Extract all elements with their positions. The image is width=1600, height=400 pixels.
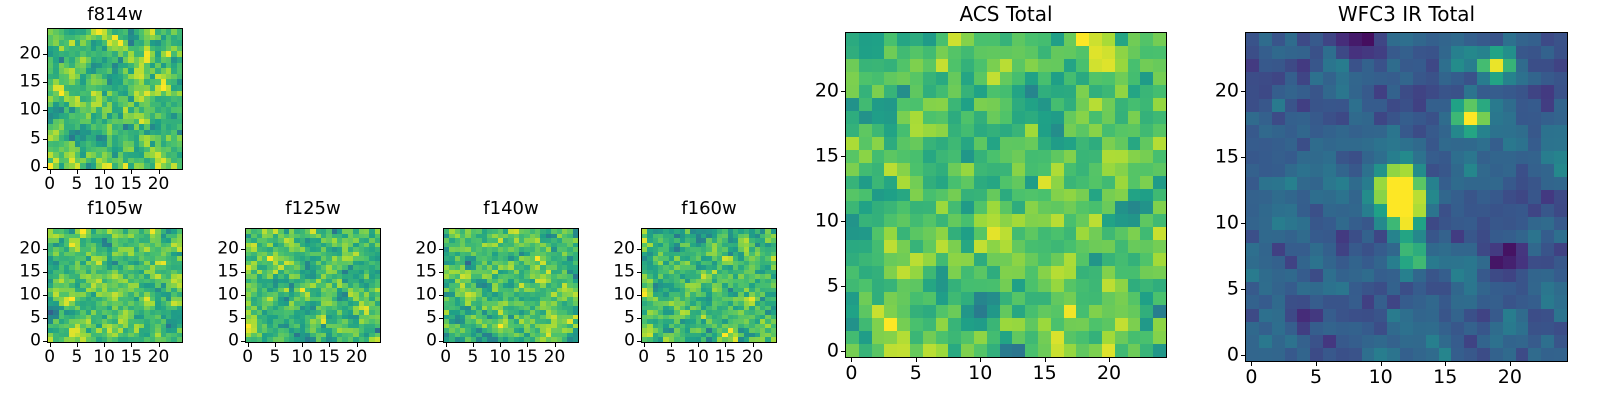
xtick-mark-acs-total-1 <box>916 358 917 362</box>
ytick-label-wfc3-ir-total-2: 10 <box>1175 214 1239 233</box>
xtick-mark-f105w-2 <box>104 343 105 347</box>
ytick-label-f125w-2: 10 <box>175 286 239 303</box>
ytick-label-f814w-3: 15 <box>0 73 41 90</box>
xtick-label-f140w-3: 15 <box>516 349 538 366</box>
xtick-label-f125w-2: 10 <box>291 349 313 366</box>
xtick-mark-acs-total-3 <box>1045 358 1046 362</box>
ytick-label-wfc3-ir-total-0: 0 <box>1175 346 1239 365</box>
xtick-label-acs-total-4: 20 <box>1097 364 1121 383</box>
panel-title-f814w: f814w <box>47 6 183 24</box>
xtick-label-wfc3-ir-total-1: 5 <box>1310 368 1322 387</box>
ytick-label-acs-total-2: 10 <box>775 212 839 231</box>
ytick-label-wfc3-ir-total-4: 20 <box>1175 82 1239 101</box>
ytick-label-acs-total-3: 15 <box>775 146 839 165</box>
panel-title-f140w: f140w <box>443 200 579 218</box>
xtick-mark-f140w-3 <box>527 343 528 347</box>
xtick-mark-f105w-4 <box>159 343 160 347</box>
xtick-label-f105w-3: 15 <box>120 349 142 366</box>
xtick-label-f125w-3: 15 <box>318 349 340 366</box>
xtick-label-acs-total-3: 15 <box>1033 364 1057 383</box>
xtick-mark-f125w-4 <box>357 343 358 347</box>
xtick-label-f125w-1: 5 <box>269 349 280 366</box>
ytick-label-f814w-4: 20 <box>0 45 41 62</box>
xtick-mark-acs-total-2 <box>980 358 981 362</box>
xtick-mark-f125w-0 <box>248 343 249 347</box>
xtick-mark-f814w-4 <box>159 170 160 174</box>
xtick-mark-f105w-3 <box>131 343 132 347</box>
ytick-label-f160w-1: 5 <box>571 309 635 326</box>
xtick-mark-f160w-3 <box>725 343 726 347</box>
xtick-label-f140w-1: 5 <box>467 349 478 366</box>
xtick-mark-f140w-1 <box>473 343 474 347</box>
xtick-mark-acs-total-0 <box>851 358 852 362</box>
axes-f125w[interactable] <box>245 228 381 343</box>
xtick-label-f105w-4: 20 <box>148 349 170 366</box>
xtick-label-f105w-1: 5 <box>71 349 82 366</box>
xtick-mark-f814w-3 <box>131 170 132 174</box>
xtick-label-f814w-3: 15 <box>120 176 142 193</box>
ytick-label-f140w-1: 5 <box>373 309 437 326</box>
axes-wfc3-ir-total[interactable] <box>1245 32 1568 362</box>
ytick-label-f105w-4: 20 <box>0 240 41 257</box>
heatmap-image-f125w <box>246 229 380 342</box>
ytick-label-f105w-1: 5 <box>0 309 41 326</box>
heatmap-image-f160w <box>642 229 776 342</box>
xtick-mark-f814w-1 <box>77 170 78 174</box>
xtick-mark-f125w-3 <box>329 343 330 347</box>
xtick-label-f105w-0: 0 <box>44 349 55 366</box>
axes-f160w[interactable] <box>641 228 777 343</box>
ytick-label-f140w-4: 20 <box>373 240 437 257</box>
panel-title-wfc3-ir-total: WFC3 IR Total <box>1245 4 1568 24</box>
panel-wfc3-ir-total: WFC3 IR Total0510152005101520 <box>0 0 1600 400</box>
xtick-label-wfc3-ir-total-4: 20 <box>1498 368 1522 387</box>
xtick-mark-wfc3-ir-total-1 <box>1316 362 1317 366</box>
ytick-label-f160w-4: 20 <box>571 240 635 257</box>
ytick-label-f814w-0: 0 <box>0 159 41 176</box>
xtick-label-f160w-4: 20 <box>742 349 764 366</box>
xtick-mark-f160w-2 <box>698 343 699 347</box>
ytick-label-acs-total-4: 20 <box>775 81 839 100</box>
heatmap-image-f105w <box>48 229 182 342</box>
ytick-label-f814w-2: 10 <box>0 102 41 119</box>
ytick-label-f105w-2: 10 <box>0 286 41 303</box>
ytick-label-wfc3-ir-total-1: 5 <box>1175 280 1239 299</box>
heatmap-image-f140w <box>444 229 578 342</box>
xtick-mark-f140w-2 <box>500 343 501 347</box>
ytick-label-f160w-0: 0 <box>571 332 635 349</box>
ytick-label-acs-total-1: 5 <box>775 277 839 296</box>
ytick-label-f140w-3: 15 <box>373 263 437 280</box>
ytick-label-f125w-3: 15 <box>175 263 239 280</box>
xtick-mark-wfc3-ir-total-3 <box>1445 362 1446 366</box>
xtick-label-f814w-0: 0 <box>44 176 55 193</box>
panel-title-f105w: f105w <box>47 200 183 218</box>
heatmap-image-wfc3-ir-total <box>1246 33 1567 361</box>
ytick-label-acs-total-0: 0 <box>775 342 839 361</box>
ytick-label-f814w-1: 5 <box>0 130 41 147</box>
xtick-label-f125w-0: 0 <box>242 349 253 366</box>
ytick-label-f125w-0: 0 <box>175 332 239 349</box>
xtick-label-f160w-2: 10 <box>687 349 709 366</box>
xtick-label-wfc3-ir-total-0: 0 <box>1245 368 1257 387</box>
xtick-label-f140w-0: 0 <box>440 349 451 366</box>
xtick-mark-acs-total-4 <box>1109 358 1110 362</box>
ytick-label-f140w-0: 0 <box>373 332 437 349</box>
xtick-mark-f125w-1 <box>275 343 276 347</box>
xtick-label-f814w-1: 5 <box>71 176 82 193</box>
figure-canvas: f814w0510152005101520f105w05101520051015… <box>0 0 1600 400</box>
ytick-label-f105w-3: 15 <box>0 263 41 280</box>
xtick-label-f140w-2: 10 <box>489 349 511 366</box>
xtick-label-f160w-0: 0 <box>638 349 649 366</box>
xtick-label-acs-total-0: 0 <box>845 364 857 383</box>
xtick-label-f160w-1: 5 <box>665 349 676 366</box>
ytick-label-f160w-2: 10 <box>571 286 635 303</box>
ytick-label-f140w-2: 10 <box>373 286 437 303</box>
xtick-mark-f160w-4 <box>753 343 754 347</box>
ytick-label-f125w-4: 20 <box>175 240 239 257</box>
heatmap-image-f814w <box>48 29 182 169</box>
xtick-mark-wfc3-ir-total-0 <box>1251 362 1252 366</box>
ytick-label-f105w-0: 0 <box>0 332 41 349</box>
xtick-mark-f140w-0 <box>446 343 447 347</box>
xtick-mark-wfc3-ir-total-4 <box>1510 362 1511 366</box>
panel-title-acs-total: ACS Total <box>845 4 1167 24</box>
xtick-label-f814w-4: 20 <box>148 176 170 193</box>
xtick-label-wfc3-ir-total-2: 10 <box>1369 368 1393 387</box>
axes-acs-total[interactable] <box>845 32 1167 358</box>
axes-f105w[interactable] <box>47 228 183 343</box>
xtick-mark-f814w-2 <box>104 170 105 174</box>
panel-title-f125w: f125w <box>245 200 381 218</box>
ytick-label-f125w-1: 5 <box>175 309 239 326</box>
heatmap-image-acs-total <box>846 33 1166 357</box>
xtick-label-f105w-2: 10 <box>93 349 115 366</box>
xtick-label-f140w-4: 20 <box>544 349 566 366</box>
ytick-label-wfc3-ir-total-3: 15 <box>1175 148 1239 167</box>
xtick-mark-f160w-1 <box>671 343 672 347</box>
xtick-mark-f105w-0 <box>50 343 51 347</box>
xtick-label-wfc3-ir-total-3: 15 <box>1433 368 1457 387</box>
xtick-mark-f140w-4 <box>555 343 556 347</box>
xtick-label-acs-total-1: 5 <box>910 364 922 383</box>
axes-f140w[interactable] <box>443 228 579 343</box>
xtick-mark-f105w-1 <box>77 343 78 347</box>
xtick-mark-f814w-0 <box>50 170 51 174</box>
panel-title-f160w: f160w <box>641 200 777 218</box>
xtick-label-f814w-2: 10 <box>93 176 115 193</box>
xtick-label-acs-total-2: 10 <box>968 364 992 383</box>
xtick-mark-f125w-2 <box>302 343 303 347</box>
axes-f814w[interactable] <box>47 28 183 170</box>
xtick-label-f160w-3: 15 <box>714 349 736 366</box>
xtick-mark-f160w-0 <box>644 343 645 347</box>
xtick-mark-wfc3-ir-total-2 <box>1381 362 1382 366</box>
xtick-label-f125w-4: 20 <box>346 349 368 366</box>
ytick-label-f160w-3: 15 <box>571 263 635 280</box>
